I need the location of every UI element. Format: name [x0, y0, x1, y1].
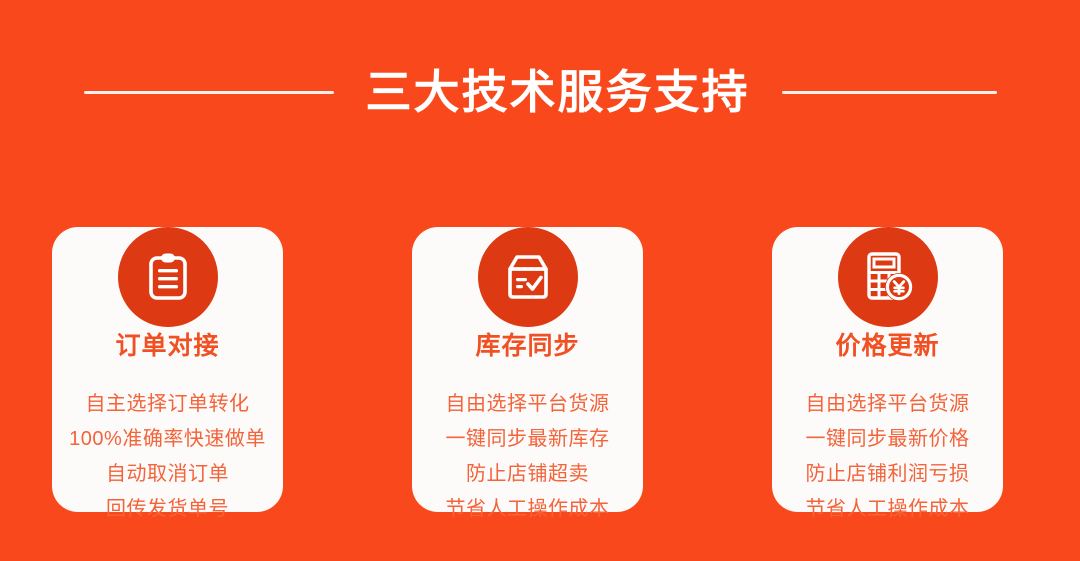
card-feature-line: 节省人工操作成本 [412, 492, 643, 527]
card-feature-list: 自主选择订单转化 100%准确率快速做单 自动取消订单 回传发货单号 [52, 387, 283, 527]
page-title: 三大技术服务支持 [366, 69, 750, 115]
clipboard-icon [118, 227, 218, 327]
card-feature-line: 自由选择平台货源 [772, 387, 1003, 422]
card-feature-line: 回传发货单号 [52, 492, 283, 527]
service-card-inventory-sync[interactable]: 库存同步 自由选择平台货源 一键同步最新库存 防止店铺超卖 节省人工操作成本 [412, 227, 643, 512]
page-header: 三大技术服务支持 [0, 62, 1080, 122]
service-cards-row: 订单对接 自主选择订单转化 100%准确率快速做单 自动取消订单 回传发货单号 … [52, 172, 1028, 517]
inventory-box-check-icon [478, 227, 578, 327]
calculator-yuan-icon [838, 227, 938, 327]
card-feature-line: 一键同步最新库存 [412, 422, 643, 457]
card-title: 价格更新 [772, 334, 1003, 359]
service-card-order-docking[interactable]: 订单对接 自主选择订单转化 100%准确率快速做单 自动取消订单 回传发货单号 [52, 227, 283, 512]
card-title: 订单对接 [52, 334, 283, 359]
card-feature-list: 自由选择平台货源 一键同步最新库存 防止店铺超卖 节省人工操作成本 [412, 387, 643, 527]
card-feature-line: 自主选择订单转化 [52, 387, 283, 422]
header-rule-right [782, 91, 997, 94]
service-card-price-update[interactable]: 价格更新 自由选择平台货源 一键同步最新价格 防止店铺利润亏损 节省人工操作成本 [772, 227, 1003, 512]
card-feature-list: 自由选择平台货源 一键同步最新价格 防止店铺利润亏损 节省人工操作成本 [772, 387, 1003, 527]
card-feature-line: 自由选择平台货源 [412, 387, 643, 422]
card-title: 库存同步 [412, 334, 643, 359]
card-feature-line: 节省人工操作成本 [772, 492, 1003, 527]
card-feature-line: 100%准确率快速做单 [52, 422, 283, 457]
card-feature-line: 防止店铺超卖 [412, 457, 643, 492]
card-feature-line: 防止店铺利润亏损 [772, 457, 1003, 492]
card-feature-line: 自动取消订单 [52, 457, 283, 492]
card-feature-line: 一键同步最新价格 [772, 422, 1003, 457]
header-rule-left [84, 91, 334, 94]
